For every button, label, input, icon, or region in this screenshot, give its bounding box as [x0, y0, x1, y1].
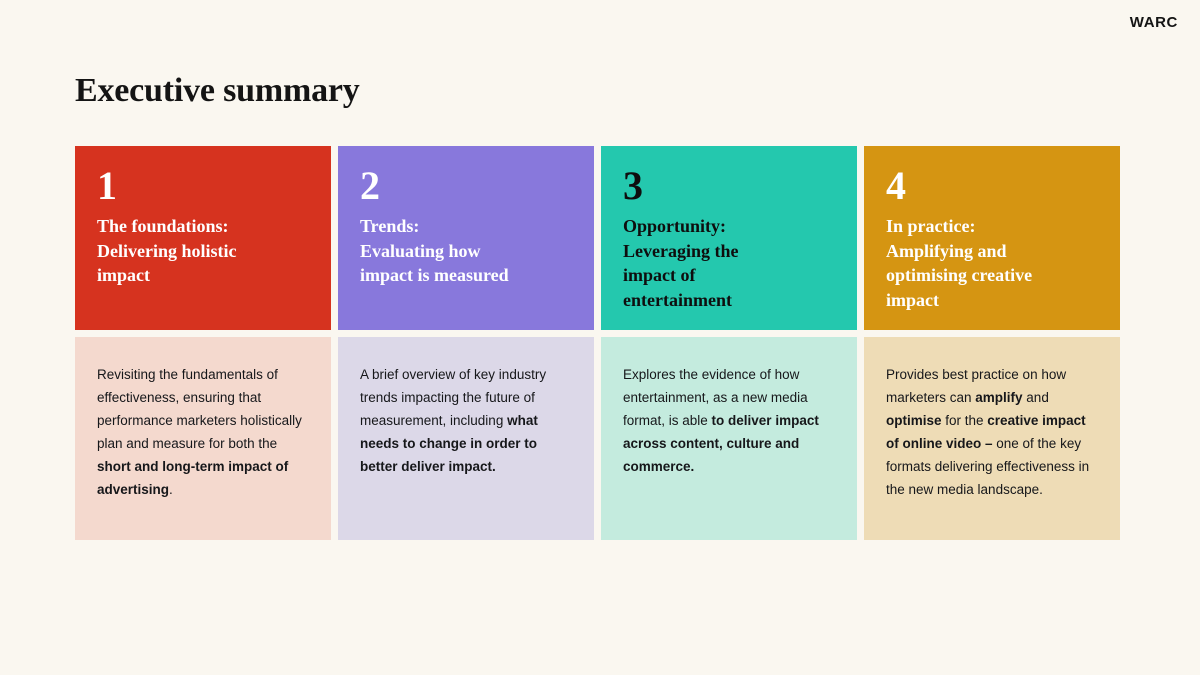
- card-number-4: 4: [886, 164, 1098, 208]
- card-heading-line: entertainment: [623, 288, 835, 313]
- card-heading-line: Evaluating how: [360, 239, 572, 264]
- card-heading-line: Opportunity:: [623, 214, 835, 239]
- card-heading-line: optimising creative: [886, 263, 1098, 288]
- card-body-2: A brief overview of key industry trends …: [338, 337, 594, 540]
- summary-card-4[interactable]: 4 In practice: Amplifying and optimising…: [864, 146, 1120, 540]
- card-body-4: Provides best practice on how marketers …: [864, 337, 1120, 540]
- card-number-2: 2: [360, 164, 572, 208]
- summary-card-2[interactable]: 2 Trends: Evaluating how impact is measu…: [338, 146, 594, 540]
- card-heading-line: impact: [97, 263, 309, 288]
- card-body-text-mid-2: for the: [942, 413, 988, 428]
- card-header-4: 4 In practice: Amplifying and optimising…: [864, 146, 1120, 330]
- card-body-text-mid: and: [1023, 390, 1049, 405]
- brand-logo: WARC: [1130, 14, 1178, 31]
- card-heading-3: Opportunity: Leveraging the impact of en…: [623, 214, 835, 312]
- card-heading-line: Amplifying and: [886, 239, 1098, 264]
- card-heading-line: Delivering holistic: [97, 239, 309, 264]
- card-body-emphasis: amplify: [975, 390, 1022, 405]
- card-body-3: Explores the evidence of how entertainme…: [601, 337, 857, 540]
- card-header-1: 1 The foundations: Delivering holistic i…: [75, 146, 331, 330]
- card-heading-line: In practice:: [886, 214, 1098, 239]
- card-body-emphasis: short and long-term impact of advertisin…: [97, 459, 288, 497]
- card-heading-2: Trends: Evaluating how impact is measure…: [360, 214, 572, 288]
- card-body-text-tail: .: [169, 482, 173, 497]
- page-title: Executive summary: [75, 72, 360, 110]
- card-heading-line: The foundations:: [97, 214, 309, 239]
- card-heading-line: impact: [886, 288, 1098, 313]
- card-header-3: 3 Opportunity: Leveraging the impact of …: [601, 146, 857, 330]
- summary-card-grid: 1 The foundations: Delivering holistic i…: [75, 146, 1124, 540]
- card-heading-line: impact of: [623, 263, 835, 288]
- card-heading-line: Trends:: [360, 214, 572, 239]
- card-body-emphasis-2: optimise: [886, 413, 942, 428]
- card-body-1: Revisiting the fundamentals of effective…: [75, 337, 331, 540]
- summary-card-1[interactable]: 1 The foundations: Delivering holistic i…: [75, 146, 331, 540]
- card-heading-1: The foundations: Delivering holistic imp…: [97, 214, 309, 288]
- card-number-3: 3: [623, 164, 835, 208]
- card-heading-line: impact is measured: [360, 263, 572, 288]
- card-heading-line: Leveraging the: [623, 239, 835, 264]
- card-body-text: Revisiting the fundamentals of effective…: [97, 367, 302, 451]
- card-number-1: 1: [97, 164, 309, 208]
- summary-card-3[interactable]: 3 Opportunity: Leveraging the impact of …: [601, 146, 857, 540]
- card-header-2: 2 Trends: Evaluating how impact is measu…: [338, 146, 594, 330]
- card-heading-4: In practice: Amplifying and optimising c…: [886, 214, 1098, 312]
